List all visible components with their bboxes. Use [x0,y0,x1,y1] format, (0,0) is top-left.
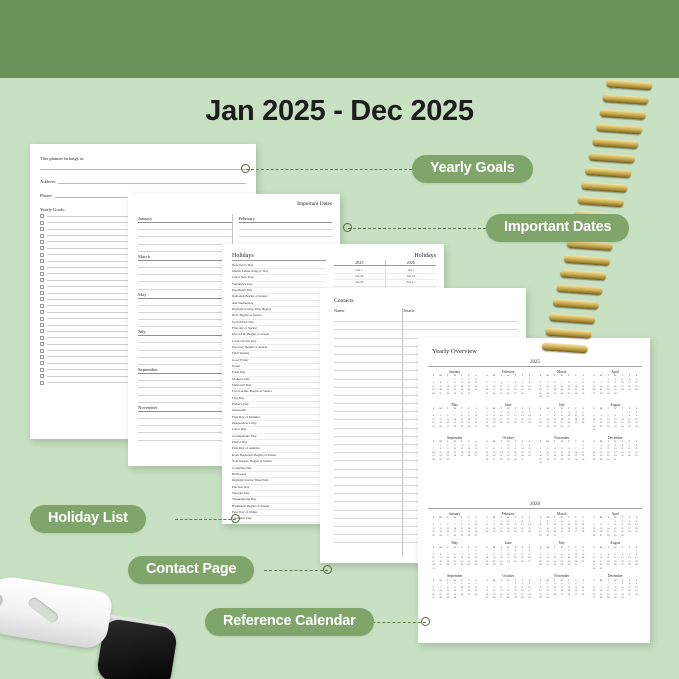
calendar-month-name: December [591,574,641,578]
calendar-day-cell: 30 [537,461,544,465]
calendar-day-cell [551,461,558,465]
calendar-day-cell: 26 [591,534,598,538]
calendar-day-cell: 23 [484,392,491,396]
calendar-month-name: May [430,541,480,545]
calendar-day-cell [619,567,626,571]
calendar-week-row: 25262728293031 [484,596,534,600]
calendar-mini-month: AprilSMTWTFS1234567891011121314151617181… [589,512,643,538]
calendar-day-cell: 28 [484,563,491,567]
calendar-day-cell [633,392,640,396]
watch-band-hole [26,595,60,624]
important-dates-write-line [138,388,232,395]
calendar-week-row: 282930 [430,458,480,462]
calendar-day-cell [579,596,586,600]
watch-band [0,573,114,650]
calendar-mini-month: JulySMTWTFS12345678910111213141516171819… [535,541,589,570]
calendar-month-name: April [591,512,641,516]
important-dates-write-line [138,313,232,320]
calendar-day-cell: 28 [519,392,526,396]
important-dates-write-line [138,275,232,282]
calendar-day-cell: 30 [544,596,551,600]
calendar-day-cell: 28 [526,530,533,534]
calendar-week-row: 2930 [537,596,587,600]
calendar-day-cell: 31 [472,425,479,429]
calendar-day-cell: 29 [605,392,612,396]
calendar-day-cell: 24 [498,530,505,534]
checkbox-icon [40,253,44,257]
calendar-day-cell [512,425,519,429]
calendar-day-cell [579,425,586,429]
calendar-day-cell [633,534,640,538]
calendar-week-row: 262728293031 [430,392,480,396]
calendar-day-cell [465,596,472,600]
calendar-mini-month: OctoberSMTWTFS12345678910111213141516171… [482,574,536,600]
calendar-day-cell: 28 [451,534,458,538]
dot-holiday-list [231,514,240,523]
connector-contact-page [264,570,328,571]
calendar-day-cell [605,428,612,432]
calendar-day-cell [526,425,533,429]
calendar-day-cell: 28 [591,458,598,462]
calendar-day-cell [551,596,558,600]
calendar-day-cell: 23 [491,530,498,534]
calendar-day-cell [572,596,579,600]
calendar-day-cell: 29 [505,458,512,462]
calendar-day-cell: 29 [484,425,491,429]
checkbox-icon [40,278,44,282]
calendar-day-cell: 30 [498,563,505,567]
calendar-day-cell [544,461,551,465]
calendar-day-cell [505,425,512,429]
calendar-mini-month: NovemberSMTWTFS1234567891011121314151617… [535,436,589,465]
calendar-mini-month: FebruarySMTWTFS1234567891011121314151617… [482,370,536,399]
calendar-day-cell: 31 [619,596,626,600]
calendar-day-cell [572,395,579,399]
important-dates-write-line [138,268,232,275]
holiday-year-header: 2026 [385,260,437,265]
checkbox-icon [40,342,44,346]
calendar-week-row: 2627282930 [591,534,641,538]
important-dates-write-line [138,426,232,433]
important-dates-month: May [138,292,232,299]
calendar-day-cell [605,567,612,571]
important-dates-left-column: JanuaryMarchMayJulySeptemberNovember [138,214,232,460]
calendar-day-cell: 27 [491,458,498,462]
calendar-week-row: 27282930 [430,596,480,600]
calendar-week-row: 293031 [537,534,587,538]
calendar-week-row: 22232425262728 [484,530,534,534]
checkbox-icon [40,227,44,231]
holiday-name: Kwanzaa begins [232,523,326,524]
important-dates-write-line [138,306,232,313]
important-dates-write-line [138,282,232,289]
calendar-day-cell [565,461,572,465]
calendar-day-cell [626,534,633,538]
calendar-day-cell [558,534,565,538]
address-label: Address: [40,179,56,184]
checkbox-icon [40,234,44,238]
calendar-day-cell: 31 [544,395,551,399]
checkbox-icon [40,221,44,225]
calendar-day-cell [565,395,572,399]
important-dates-write-line [138,245,232,252]
calendar-day-cell [626,567,633,571]
calendar-year-2025: 2025JanuarySMTWTFS1234567891011121314151… [428,360,642,469]
important-dates-write-line [138,299,232,306]
calendar-day-cell: 26 [512,530,519,534]
calendar-day-cell [526,392,533,396]
calendar-day-cell [572,425,579,429]
calendar-day-cell: 27 [430,596,437,600]
contacts-col-details: Details [402,308,414,313]
holiday-year-rule [334,265,436,266]
calendar-month-name: March [537,512,587,516]
holidays-right-title: Holidays [334,253,436,260]
calendar-day-cell: 29 [605,596,612,600]
important-dates-write-line [138,433,232,440]
calendar-day-cell [451,458,458,462]
calendar-day-cell: 27 [512,392,519,396]
important-dates-month: January [138,216,232,223]
calendar-day-cell: 22 [484,530,491,534]
spiral-coil-icon [556,284,602,295]
calendar-day-cell: 28 [437,596,444,600]
calendar-year-label: 2025 [428,360,642,367]
important-dates-write-line [138,320,232,327]
calendar-day-cell [565,596,572,600]
calendar-day-cell: 31 [598,567,605,571]
calendar-mini-month: JuneSMTWTFS12345678910111213141516171819… [482,541,536,570]
checkbox-icon [40,310,44,314]
checkbox-icon [40,259,44,263]
calendar-day-cell: 30 [491,425,498,429]
calendar-day-cell: 25 [430,534,437,538]
calendar-week-row: 27282930 [591,392,641,396]
important-dates-title: Important Dates [297,201,332,207]
holidays-title: Holidays [232,253,326,260]
spiral-coil-icon [563,255,609,266]
calendar-day-cell [619,428,626,432]
calendar-day-cell: 31 [551,534,558,538]
callout-reference-calendar[interactable]: Reference Calendar [205,608,374,636]
calendar-day-cell [626,392,633,396]
spiral-coil-icon [578,196,624,207]
important-dates-month: July [138,329,232,336]
calendar-week-row: 2728293031 [591,596,641,600]
calendar-month-name: September [430,436,480,440]
calendar-mini-month: JanuarySMTWTFS12345678910111213141516171… [428,370,482,399]
calendar-day-cell: 27 [537,425,544,429]
calendar-day-cell [505,563,512,567]
contact-row [334,314,518,322]
calendar-week-row: 232425262728 [484,392,534,396]
contacts-col-name: Name [334,308,402,313]
page-subtitle: Jan 2025 - Dec 2025 [0,95,679,128]
calendar-day-cell: 29 [512,596,519,600]
checkbox-icon [40,374,44,378]
calendar-week-row: 31 [591,428,641,432]
calendar-month-name: June [484,403,534,407]
calendar-day-cell: 28 [598,392,605,396]
calendar-day-cell: 30 [605,458,612,462]
calendar-week-row: 3031 [537,395,587,399]
calendar-day-cell [437,567,444,571]
calendar-day-cell: 30 [565,563,572,567]
calendar-day-cell: 28 [598,596,605,600]
calendar-day-cell: 29 [551,425,558,429]
calendar-day-cell [572,534,579,538]
important-dates-write-line [138,358,232,365]
calendar-day-cell [612,428,619,432]
important-dates-write-line [138,381,232,388]
calendar-day-cell [458,458,465,462]
calendar-day-cell [558,596,565,600]
calendar-day-cell: 29 [537,534,544,538]
calendar-day-cell [444,567,451,571]
holiday-year-headers: 20252026 [334,260,436,265]
calendar-month-name: January [430,370,480,374]
calendar-month-name: April [591,370,641,374]
calendar-day-cell: 25 [484,596,491,600]
calendar-mini-month: DecemberSMTWTFS1234567891011121314151617… [589,436,643,465]
calendar-day-cell [612,567,619,571]
calendar-day-cell [465,567,472,571]
calendar-day-cell: 31 [472,534,479,538]
calendar-month-name: February [484,370,534,374]
calendar-day-cell [565,534,572,538]
checkbox-icon [40,349,44,353]
calendar-month-name: September [430,574,480,578]
checkbox-icon [40,240,44,244]
calendar-day-cell: 29 [444,596,451,600]
calendar-day-cell [633,428,640,432]
calendar-day-cell: 28 [430,458,437,462]
important-dates-write-line [138,374,232,381]
calendar-month-grid: JanuarySMTWTFS12345678910111213141516171… [428,512,642,604]
calendar-day-cell [519,425,526,429]
callout-yearly-goals[interactable]: Yearly Goals [412,155,533,183]
calendar-day-cell [472,567,479,571]
calendar-day-cell: 29 [451,392,458,396]
overview-title: Yearly Overview [432,348,477,355]
calendar-month-name: August [591,403,641,407]
calendar-day-cell: 31 [591,428,598,432]
calendar-day-cell: 28 [451,425,458,429]
calendar-day-cell: 27 [444,425,451,429]
calendar-week-row: 25262728293031 [430,534,480,538]
holidays-title-rule [232,260,326,261]
checkbox-icon [40,214,44,218]
calendar-day-cell: 28 [544,425,551,429]
important-dates-month: February [239,216,333,223]
calendar-day-cell: 26 [484,458,491,462]
checkbox-icon [40,285,44,289]
calendar-day-cell: 29 [458,425,465,429]
spiral-coil-icon [588,152,634,163]
checkbox-icon [40,368,44,372]
checkbox-icon [40,323,44,327]
calendar-mini-month: OctoberSMTWTFS12345678910111213141516171… [482,436,536,465]
spiral-coil-icon [552,298,598,309]
calendar-day-cell: 30 [512,458,519,462]
calendar-week-row: 25262728293031 [430,425,480,429]
calendar-day-cell [551,395,558,399]
calendar-mini-month: NovemberSMTWTFS1234567891011121314151617… [535,574,589,600]
spiral-coil-icon [549,313,595,324]
calendar-day-cell: 29 [612,534,619,538]
calendar-day-cell [626,458,633,462]
checkbox-icon [40,336,44,340]
checkbox-icon [40,246,44,250]
checkbox-icon [40,304,44,308]
calendar-month-name: May [430,403,480,407]
calendar-day-cell: 30 [465,534,472,538]
checkbox-icon [40,361,44,365]
calendar-day-cell [472,596,479,600]
callout-holiday-list[interactable]: Holiday List [30,505,146,533]
calendar-day-cell [579,395,586,399]
owner-label: This planner belongs to: [40,156,246,161]
calendar-day-cell: 30 [537,395,544,399]
checkbox-icon [40,317,44,321]
contact-row [334,322,518,330]
calendar-day-cell [458,567,465,571]
calendar-day-cell: 25 [505,530,512,534]
calendar-day-cell: 27 [437,392,444,396]
calendar-day-cell: 31 [465,392,472,396]
calendar-day-cell: 30 [612,392,619,396]
calendar-day-cell: 31 [430,567,437,571]
calendar-week-row: 28293031 [591,458,641,462]
checkbox-icon [40,355,44,359]
checkbox-icon [40,329,44,333]
watch-buckle-icon [0,592,3,607]
calendar-mini-month: JanuarySMTWTFS12345678910111213141516171… [428,512,482,538]
calendar-mini-month: SeptemberSMTWTFS123456789101112131415161… [428,436,482,465]
calendar-day-cell: 29 [598,458,605,462]
page-reference-calendar: Yearly Overview 2025JanuarySMTWTFS123456… [418,338,650,643]
important-dates-write-line [138,419,232,426]
phone-label: Phone: [40,193,53,198]
calendar-day-cell: 29 [437,458,444,462]
calendar-month-name: June [484,541,534,545]
calendar-mini-month: MaySMTWTFS123456789101112131415161718192… [428,541,482,570]
dot-yearly-goals [241,164,250,173]
calendar-day-cell: 25 [498,392,505,396]
spiral-coil-icon [592,138,638,149]
calendar-day-cell: 27 [498,596,505,600]
calendar-day-cell: 26 [537,563,544,567]
contacts-title: Contacts [334,298,354,304]
spiral-coil-icon [606,79,652,90]
calendar-day-cell [472,458,479,462]
calendar-mini-month: AugustSMTWTFS123456789101112131415161718… [589,541,643,570]
calendar-day-cell: 30 [544,534,551,538]
calendar-day-cell: 30 [451,596,458,600]
calendar-day-cell: 31 [526,596,533,600]
calendar-mini-month: SeptemberSMTWTFS123456789101112131415161… [428,574,482,600]
calendar-day-cell: 31 [519,458,526,462]
calendar-day-cell: 28 [505,596,512,600]
spiral-coil-icon [585,167,631,178]
calendar-month-name: November [537,574,587,578]
calendar-day-cell: 26 [437,425,444,429]
smartwatch-photo [0,575,167,679]
calendar-mini-month: JulySMTWTFS12345678910111213141516171819… [535,403,589,432]
connector-yearly-goals [246,169,412,170]
planner-listing-image: Weekly Planner Jan 2025 - Dec 2025 This … [0,0,679,679]
calendar-mini-month: DecemberSMTWTFS1234567891011121314151617… [589,574,643,600]
owner-rule [40,169,246,170]
calendar-week-row: 30 [537,461,587,465]
callout-important-dates[interactable]: Important Dates [486,214,629,242]
calendar-day-cell: 27 [519,530,526,534]
calendar-day-cell: 31 [572,563,579,567]
calendar-day-cell: 30 [444,458,451,462]
calendar-month-name: July [537,403,587,407]
calendar-week-row: 2930 [484,425,534,429]
important-dates-month: September [138,367,232,374]
calendar-day-cell: 26 [505,392,512,396]
important-dates-write-line [239,223,333,230]
dot-important-dates [343,223,352,232]
important-dates-write-line [138,237,232,244]
calendar-month-name: August [591,541,641,545]
holiday-year-header: 2025 [334,260,385,265]
calendar-month-name: January [430,512,480,516]
calendar-month-name: October [484,574,534,578]
important-dates-write-line [239,230,333,237]
calendar-day-cell [619,458,626,462]
important-dates-write-line [138,412,232,419]
calendar-day-cell [526,458,533,462]
calendar-day-cell [633,458,640,462]
calendar-day-cell [579,534,586,538]
calendar-month-name: February [484,512,534,516]
calendar-month-grid: JanuarySMTWTFS12345678910111213141516171… [428,370,642,469]
important-dates-write-line [138,351,232,358]
calendar-week-row: 31 [430,567,480,571]
calendar-day-cell [558,395,565,399]
calendar-day-cell [633,596,640,600]
checkbox-icon [40,266,44,270]
calendar-month-name: March [537,370,587,374]
calendar-month-name: November [537,436,587,440]
calendar-day-cell: 24 [491,392,498,396]
dot-contact-page [323,565,332,574]
calendar-day-cell: 30 [519,596,526,600]
calendar-day-cell: 28 [551,563,558,567]
important-dates-write-line [138,343,232,350]
calendar-day-cell [451,567,458,571]
important-dates-write-line [138,230,232,237]
calendar-day-cell: 30 [591,567,598,571]
dot-reference-calendar [421,617,430,626]
calendar-day-cell: 26 [430,392,437,396]
connector-holiday-list [175,519,236,520]
calendar-day-cell [579,461,586,465]
calendar-day-cell [619,392,626,396]
calendar-week-row: 2728293031 [537,425,587,429]
important-dates-month: November [138,405,232,412]
calendar-day-cell: 26 [437,534,444,538]
calendar-day-cell: 30 [619,534,626,538]
header-band [0,0,679,78]
calendar-mini-month: FebruarySMTWTFS1234567891011121314151617… [482,512,536,538]
address-rule [58,183,246,184]
calendar-day-cell: 30 [612,596,619,600]
important-dates-write-line [138,396,232,403]
